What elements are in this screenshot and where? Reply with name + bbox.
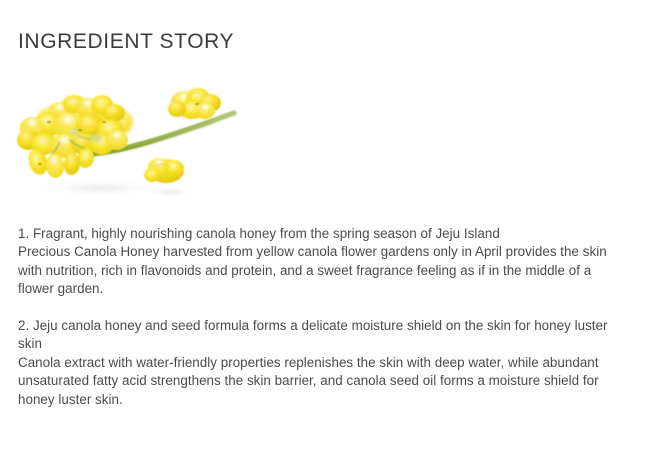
- canola-flower-image: [14, 82, 246, 204]
- paragraph-1-detail: Precious Canola Honey harvested from yel…: [18, 243, 608, 298]
- ingredient-story-page: INGREDIENT STORY: [0, 0, 649, 454]
- page-title: INGREDIENT STORY: [18, 28, 234, 56]
- paragraph-2-headline: 2. Jeju canola honey and seed formula fo…: [18, 317, 608, 354]
- paragraph-2-detail: Canola extract with water-friendly prope…: [18, 354, 608, 409]
- paragraph-1-headline: 1. Fragrant, highly nourishing canola ho…: [18, 225, 608, 243]
- paragraph-1: 1. Fragrant, highly nourishing canola ho…: [18, 225, 608, 299]
- paragraph-2: 2. Jeju canola honey and seed formula fo…: [18, 317, 608, 409]
- ingredient-description: 1. Fragrant, highly nourishing canola ho…: [18, 225, 608, 409]
